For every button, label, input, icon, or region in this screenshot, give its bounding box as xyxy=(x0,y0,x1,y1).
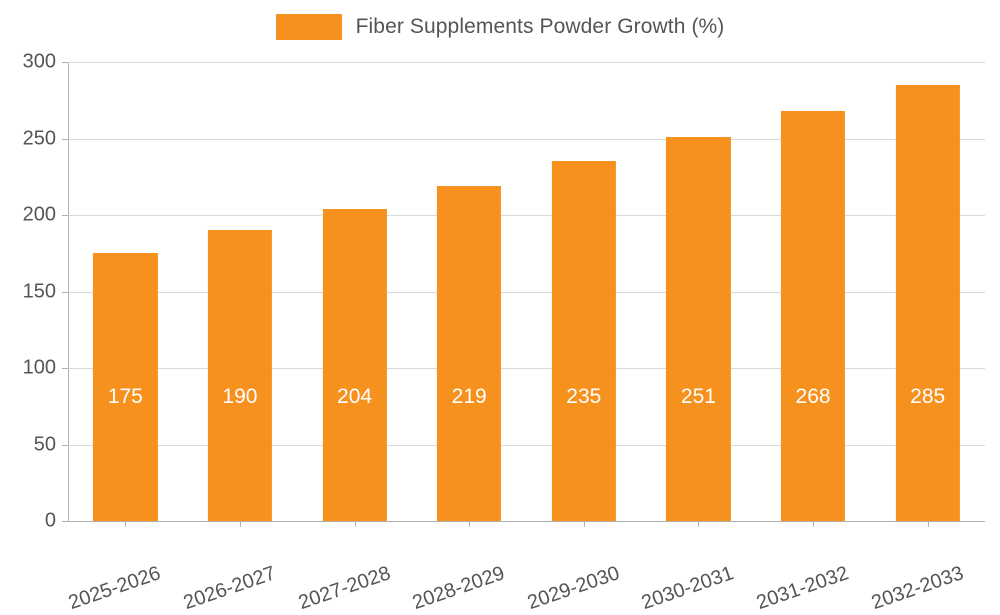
y-tick-label: 150 xyxy=(23,280,56,303)
bar-value-label: 219 xyxy=(452,385,487,409)
bar-series: 175190204219235251268285 xyxy=(68,62,985,521)
bar-group: 219 xyxy=(412,62,527,521)
x-tick-label: 2026-2027 xyxy=(181,562,279,615)
bar-group: 251 xyxy=(641,62,756,521)
bar-group: 204 xyxy=(297,62,412,521)
x-tick-label: 2032-2033 xyxy=(868,562,966,615)
bar[interactable] xyxy=(552,161,616,521)
legend-swatch-series-1 xyxy=(276,14,342,40)
chart-legend: Fiber Supplements Powder Growth (%) xyxy=(0,14,1000,40)
x-tick-mark xyxy=(355,521,356,527)
x-tick-label: 2028-2029 xyxy=(410,562,508,615)
x-tick-mark xyxy=(698,521,699,527)
x-tick-mark xyxy=(469,521,470,527)
x-tick-label: 2031-2032 xyxy=(754,562,852,615)
bar-value-label: 204 xyxy=(337,385,372,409)
bar[interactable] xyxy=(437,186,501,521)
bar[interactable] xyxy=(666,137,730,521)
bar-group: 285 xyxy=(870,62,985,521)
bar-value-label: 235 xyxy=(566,385,601,409)
gridline xyxy=(68,521,985,522)
bar[interactable] xyxy=(896,85,960,521)
y-tick-mark xyxy=(62,521,68,522)
bar-value-label: 190 xyxy=(222,385,257,409)
y-tick-label: 250 xyxy=(23,127,56,150)
x-tick-mark xyxy=(125,521,126,527)
bar[interactable] xyxy=(322,209,386,521)
x-tick-mark xyxy=(584,521,585,527)
bar-chart: Fiber Supplements Powder Growth (%) 0501… xyxy=(0,0,1000,600)
x-tick-label: 2025-2026 xyxy=(66,562,164,615)
bar[interactable] xyxy=(208,230,272,521)
plot-area: 050100150200250300 175190204219235251268… xyxy=(68,62,985,521)
bar-group: 268 xyxy=(756,62,871,521)
bar[interactable] xyxy=(781,111,845,521)
x-tick-label: 2029-2030 xyxy=(525,562,623,615)
y-tick-label: 200 xyxy=(23,204,56,227)
x-tick-mark xyxy=(928,521,929,527)
y-tick-label: 50 xyxy=(34,433,56,456)
bar-group: 235 xyxy=(527,62,642,521)
x-tick-mark xyxy=(240,521,241,527)
y-tick-label: 0 xyxy=(45,510,56,533)
legend-label-series-1: Fiber Supplements Powder Growth (%) xyxy=(356,15,725,39)
y-tick-label: 100 xyxy=(23,357,56,380)
bar-group: 190 xyxy=(183,62,298,521)
x-tick-mark xyxy=(813,521,814,527)
bar-group: 175 xyxy=(68,62,183,521)
x-tick-label: 2030-2031 xyxy=(639,562,737,615)
bar-value-label: 268 xyxy=(796,385,831,409)
x-tick-label: 2027-2028 xyxy=(295,562,393,615)
bar-value-label: 251 xyxy=(681,385,716,409)
bar-value-label: 285 xyxy=(910,385,945,409)
y-tick-label: 300 xyxy=(23,51,56,74)
bar-value-label: 175 xyxy=(108,385,143,409)
